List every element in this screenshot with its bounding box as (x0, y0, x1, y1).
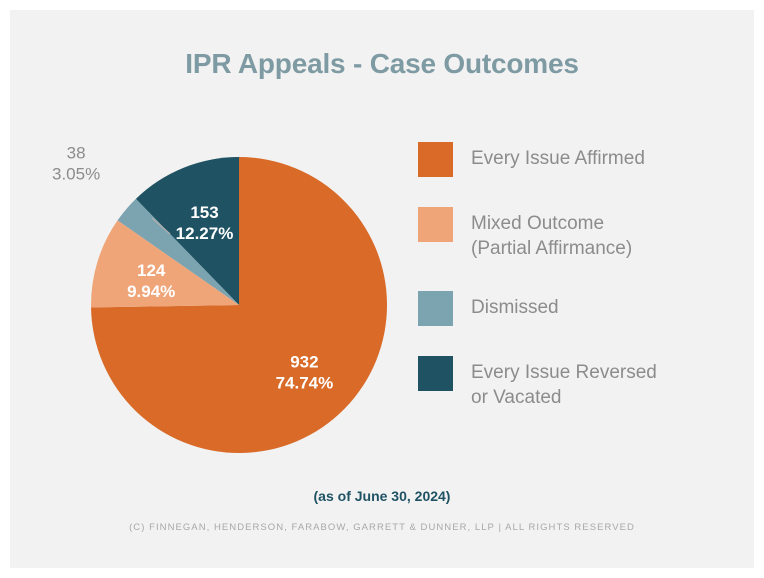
legend-label-dismissed: Dismissed (471, 291, 559, 320)
legend-label-every-issue-reversed: Every Issue Reversed or Vacated (471, 356, 657, 410)
legend-swatch-every-issue-reversed (418, 356, 453, 391)
legend-label-every-issue-affirmed: Every Issue Affirmed (471, 142, 645, 171)
pie-chart: 93274.74%1249.94%383.05%15312.27% (10, 10, 430, 480)
as-of-date: (as of June 30, 2024) (10, 488, 754, 504)
chart-card: IPR Appeals - Case Outcomes 93274.74%124… (10, 10, 754, 568)
chart-legend: Every Issue Affirmed Mixed Outcome (Part… (418, 142, 748, 440)
pie-chart-svg: 93274.74%1249.94%383.05%15312.27% (10, 10, 430, 480)
pie-slice-group (91, 157, 387, 453)
slide-canvas: IPR Appeals - Case Outcomes 93274.74%124… (0, 0, 764, 578)
legend-item-every-issue-reversed[interactable]: Every Issue Reversed or Vacated (418, 356, 748, 410)
pie-label-dismissed: 383.05% (52, 144, 100, 184)
legend-swatch-every-issue-affirmed (418, 142, 453, 177)
legend-swatch-mixed-outcome (418, 207, 453, 242)
legend-item-every-issue-affirmed[interactable]: Every Issue Affirmed (418, 142, 748, 177)
copyright-notice: (C) FINNEGAN, HENDERSON, FARABOW, GARRET… (10, 522, 754, 533)
legend-item-dismissed[interactable]: Dismissed (418, 291, 748, 326)
legend-label-mixed-outcome: Mixed Outcome (Partial Affirmance) (471, 207, 632, 261)
legend-swatch-dismissed (418, 291, 453, 326)
legend-item-mixed-outcome[interactable]: Mixed Outcome (Partial Affirmance) (418, 207, 748, 261)
